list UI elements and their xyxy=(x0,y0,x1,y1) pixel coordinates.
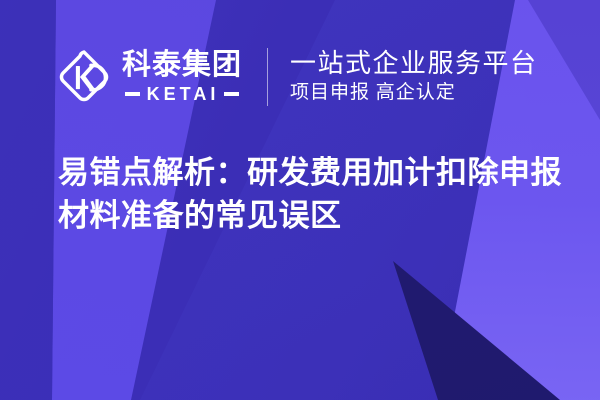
page-title: 易错点解析：研发费用加计扣除申报材料准备的常见误区 xyxy=(58,152,566,238)
headline-container: 易错点解析：研发费用加计扣除申报材料准备的常见误区 xyxy=(58,152,566,238)
brand-name-en: KETAI xyxy=(147,85,220,103)
promo-banner: 科泰集团 KETAI 一站式企业服务平台 项目申报 高企认定 易错点解析：研发费… xyxy=(0,0,600,400)
slogan-secondary: 项目申报 高企认定 xyxy=(290,82,538,105)
banner-header: 科泰集团 KETAI 一站式企业服务平台 项目申报 高企认定 xyxy=(0,38,600,116)
logo-dash-right-icon xyxy=(224,92,239,96)
slogan-primary: 一站式企业服务平台 xyxy=(290,49,538,78)
brand-logo[interactable]: 科泰集团 KETAI xyxy=(55,48,242,106)
header-vertical-divider xyxy=(267,48,268,106)
logo-dash-left-icon xyxy=(125,92,140,96)
brand-slogan: 一站式企业服务平台 项目申报 高企认定 xyxy=(290,49,538,105)
brand-logo-text: 科泰集团 KETAI xyxy=(122,51,242,103)
brand-name-cn: 科泰集团 xyxy=(122,51,242,80)
ketai-diamond-kd-monogram-icon xyxy=(55,48,113,106)
brand-name-en-row: KETAI xyxy=(122,85,242,103)
